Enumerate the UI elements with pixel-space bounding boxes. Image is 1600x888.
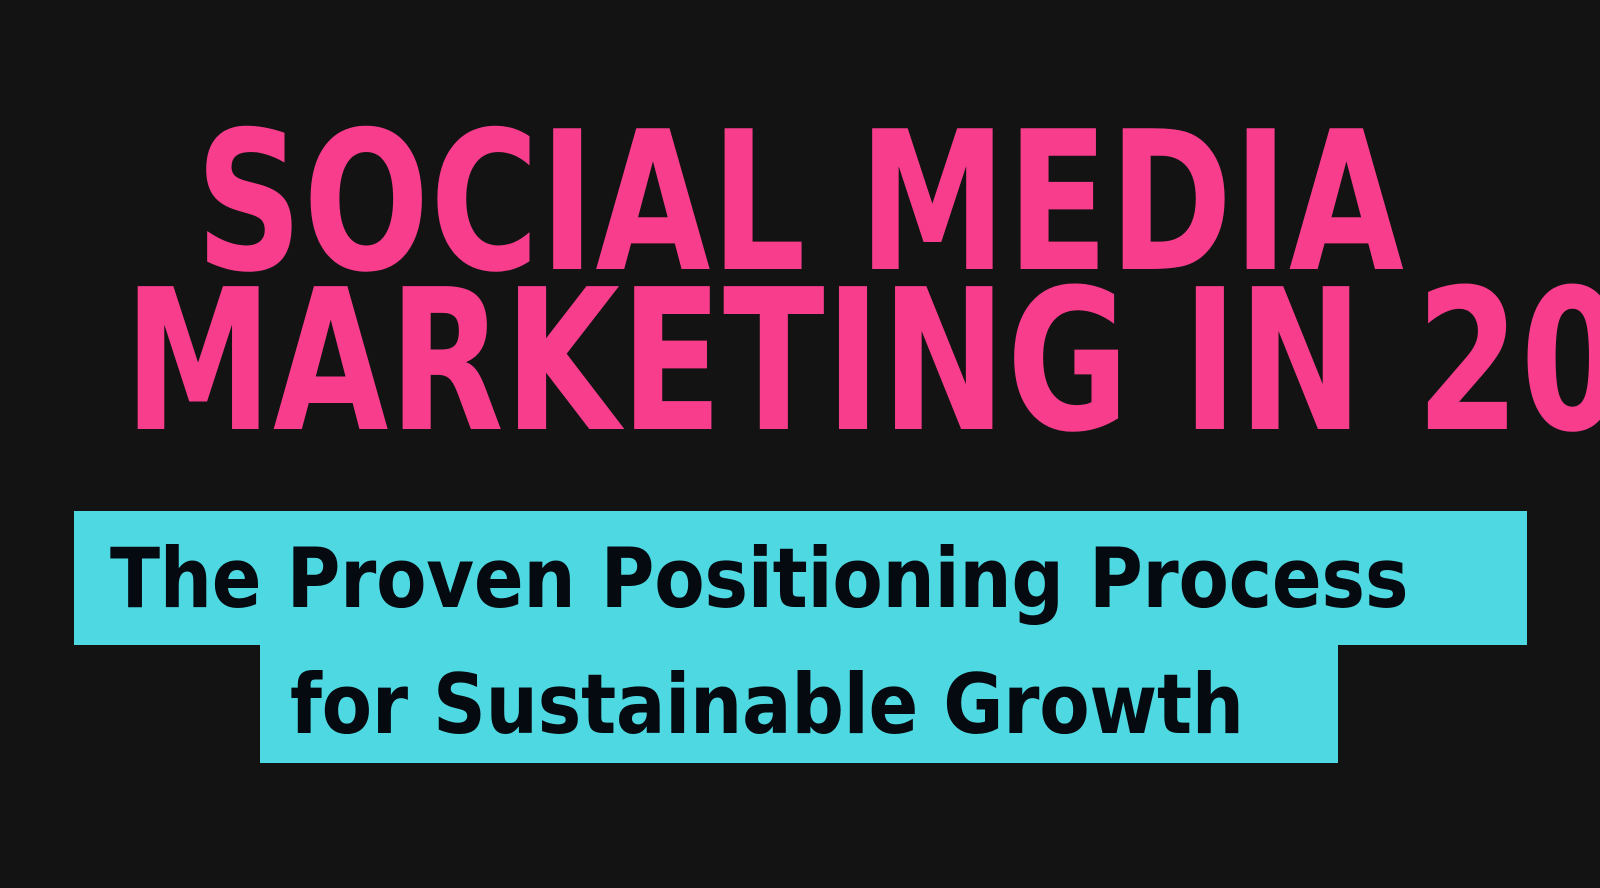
subtitle-band-lower: for Sustainable Growth [260, 645, 1338, 763]
headline-block: SOCIAL MEDIA MARKETING IN 2026 [0, 126, 1600, 441]
headline-line-2: MARKETING IN 2026 [124, 284, 1476, 441]
subtitle-line-2: for Sustainable Growth [290, 663, 1244, 746]
subtitle-line-1: The Proven Positioning Process [110, 537, 1408, 620]
subtitle-band-upper: The Proven Positioning Process [74, 511, 1527, 645]
title-card-canvas: SOCIAL MEDIA MARKETING IN 2026 The Prove… [0, 0, 1600, 888]
